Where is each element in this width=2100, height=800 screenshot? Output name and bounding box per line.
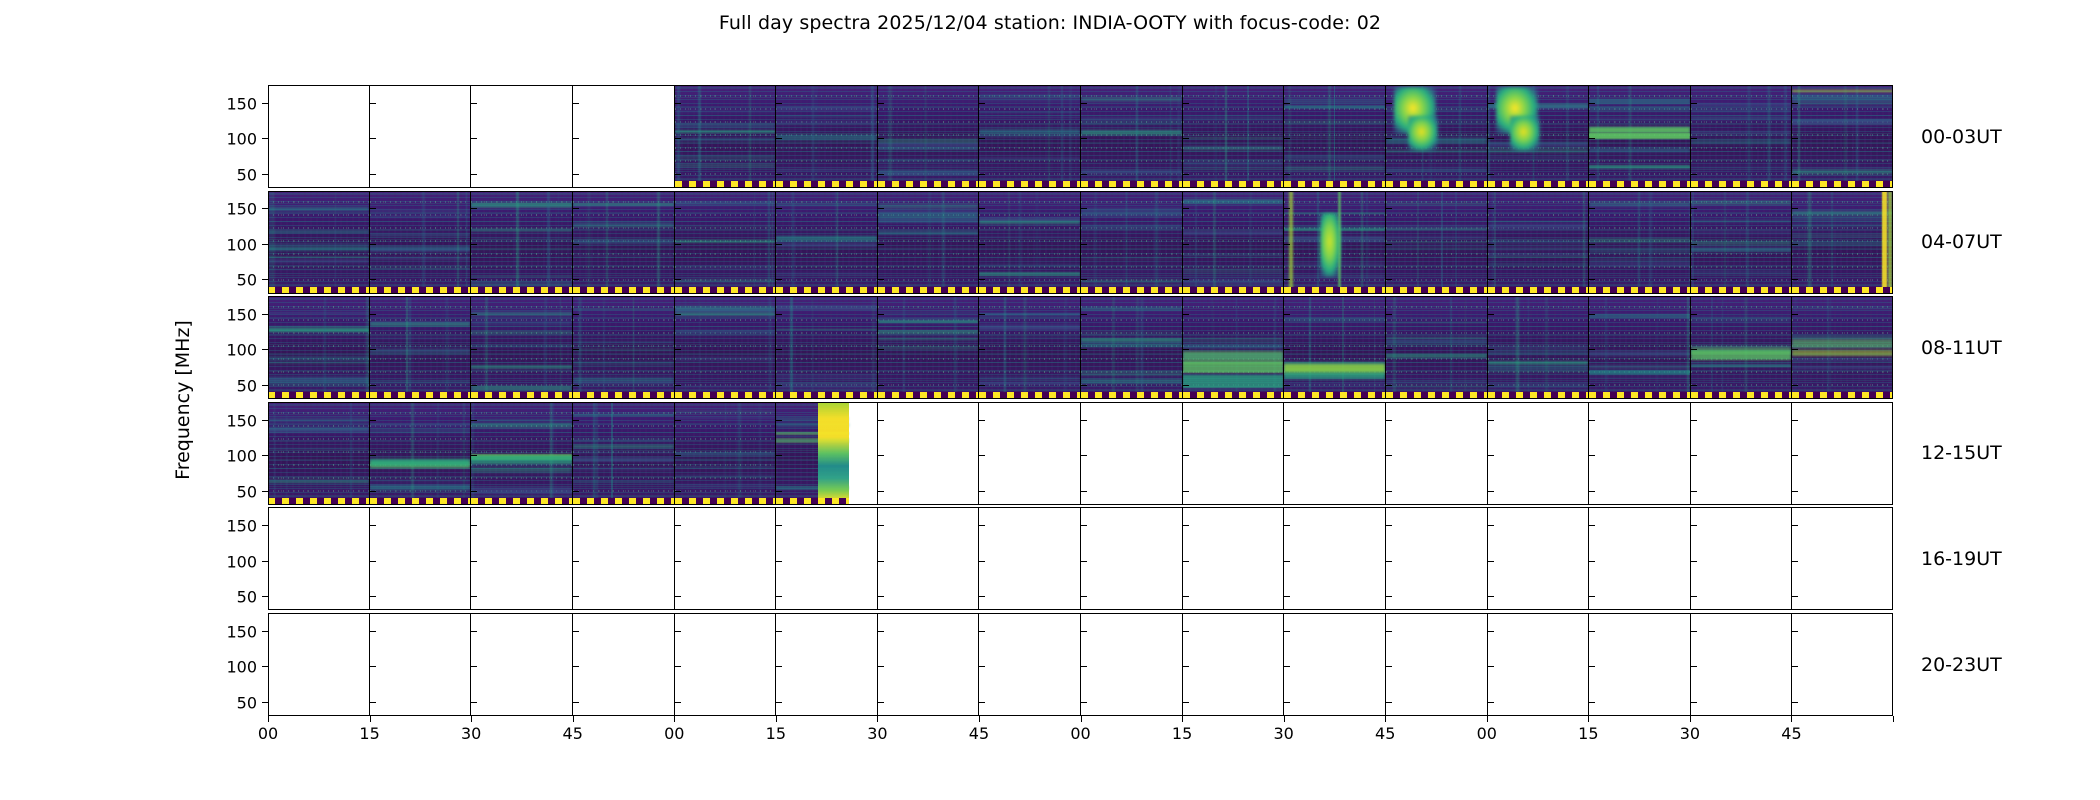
calibration-strip [471,287,572,294]
calibration-strip [1792,181,1893,188]
y-tick-inner [1081,666,1087,667]
spectrogram-panel[interactable] [1589,402,1691,505]
calibration-strip [1284,392,1385,399]
y-tick: 100 [262,349,268,350]
y-tick-inner [1488,666,1494,667]
spectrogram-speckle-texture [1183,296,1284,399]
row-time-label: 12-15UT [1921,442,2002,464]
y-tick-inner [1081,138,1087,139]
y-tick-inner [776,596,782,597]
y-tick-inner [370,244,376,245]
spectrogram-panel[interactable] [1183,402,1285,505]
y-tick-inner [1488,314,1494,315]
x-tick [471,716,472,722]
y-tick-inner [1284,702,1290,703]
spectrogram-panel[interactable] [1081,402,1183,505]
y-tick-inner [1589,631,1595,632]
y-tick-inner [1284,561,1290,562]
y-tick-inner [1081,420,1087,421]
y-tick-inner [878,138,884,139]
spectrogram-panel[interactable] [1284,402,1386,505]
spectrogram-panel[interactable] [1488,85,1590,188]
spectrogram-speckle-texture [878,296,979,399]
spectrogram-panel[interactable] [573,296,675,399]
spectrogram-panel[interactable] [268,507,370,610]
y-tick-inner [1589,561,1595,562]
spectrogram-panel[interactable] [268,296,370,399]
y-tick-inner [1792,244,1798,245]
spectrogram-panel[interactable] [1589,507,1691,610]
y-tick-inner [1386,525,1392,526]
spectrogram-panel[interactable] [573,402,675,505]
y-tick-inner [675,491,681,492]
y-tick-inner [1589,455,1595,456]
spectrogram-panel[interactable] [979,191,1081,294]
y-tick-inner [1386,455,1392,456]
x-tick [1182,716,1183,722]
spectrogram-panel[interactable] [1284,296,1386,399]
spectrogram-panel[interactable] [1081,191,1183,294]
spectrogram-panel[interactable] [1691,507,1793,610]
calibration-strip [573,392,674,399]
y-tick-inner [675,455,681,456]
y-tick-inner [370,385,376,386]
y-tick-inner [1691,702,1697,703]
y-tick-inner [1284,349,1290,350]
y-tick-inner [1691,561,1697,562]
y-tick-label: 50 [237,165,257,184]
spectrogram-panel[interactable] [1691,402,1793,505]
y-tick: 50 [262,385,268,386]
spectrogram-panel[interactable] [776,613,878,716]
y-tick-inner [1589,491,1595,492]
y-tick-inner [1691,314,1697,315]
spectrogram-image [1284,296,1385,399]
spectrogram-panel[interactable] [1792,296,1893,399]
calibration-strip [1691,287,1792,294]
spectrogram-panel[interactable] [370,85,472,188]
y-tick-inner [979,208,985,209]
y-tick-inner [1792,631,1798,632]
y-tick-inner [1183,491,1189,492]
y-tick-inner [1284,314,1290,315]
spectrogram-panel[interactable] [1792,613,1893,716]
y-tick-inner [1183,666,1189,667]
y-tick-inner [1792,666,1798,667]
spectrogram-image [878,296,979,399]
spectrogram-panel[interactable] [776,507,878,610]
spectrogram-panel[interactable] [675,296,777,399]
calibration-strip [1183,181,1284,188]
spectrogram-panel[interactable] [1183,613,1285,716]
spectrogram-panel[interactable] [878,402,980,505]
spectrogram-panel[interactable] [1691,613,1793,716]
spectrogram-panel[interactable] [1691,191,1793,294]
panel-strip [268,402,1893,505]
y-tick-inner [1081,103,1087,104]
spectrogram-row[interactable]: 15010050 [268,296,1893,399]
spectrogram-speckle-texture [1691,191,1792,294]
y-tick-inner [1081,385,1087,386]
y-tick-inner [1284,491,1290,492]
spectrogram-panel[interactable] [1589,85,1691,188]
y-tick-inner [1792,596,1798,597]
spectrogram-panel[interactable] [1488,191,1590,294]
y-tick-inner [471,385,477,386]
spectrogram-panel[interactable] [1183,296,1285,399]
x-tick [674,716,675,722]
y-tick-inner [1589,314,1595,315]
spectrogram-speckle-texture [1284,85,1385,188]
calibration-strip [675,287,776,294]
y-tick-inner [471,279,477,280]
y-tick-inner [1081,525,1087,526]
y-tick-inner [573,244,579,245]
spectrogram-panel[interactable] [675,402,777,505]
spectrogram-panel[interactable] [979,507,1081,610]
spectrogram-panel[interactable] [1589,296,1691,399]
spectrogram-panel[interactable] [471,191,573,294]
y-tick-inner [675,279,681,280]
y-tick: 100 [262,561,268,562]
y-tick-inner [1488,174,1494,175]
x-tick-label: 45 [969,724,989,743]
y-tick-inner [370,314,376,315]
y-tick-inner [1183,349,1189,350]
y-tick-inner [1488,138,1494,139]
spectrogram-speckle-texture [268,402,369,505]
calibration-strip [1488,287,1589,294]
spectrogram-image [471,296,572,399]
y-tick-inner [979,525,985,526]
spectrogram-speckle-texture [471,296,572,399]
spectrogram-panel[interactable] [1589,613,1691,716]
y-tick-inner [1488,702,1494,703]
spectrogram-panel[interactable] [1792,85,1893,188]
y-tick-inner [878,596,884,597]
spectrogram-panel[interactable] [370,191,472,294]
spectrogram-panel[interactable] [370,402,472,505]
y-axis-label: Frequency [MHz] [172,320,194,480]
y-tick-inner [1691,279,1697,280]
spectrogram-speckle-texture [1081,85,1182,188]
x-tick-label: 30 [1273,724,1293,743]
y-tick: 50 [262,596,268,597]
calibration-strip [1081,287,1182,294]
calibration-strip [1183,392,1284,399]
y-tick-inner [1386,631,1392,632]
y-tick-inner [776,244,782,245]
panel-strip [268,296,1893,399]
x-tick [573,716,574,722]
y-tick-inner [878,349,884,350]
y-tick-inner [878,420,884,421]
spectrogram-panel[interactable] [1386,507,1488,610]
y-tick-inner [1284,244,1290,245]
spectrogram-panel[interactable] [471,85,573,188]
spectrogram-image [1081,191,1182,294]
y-tick-inner [878,666,884,667]
spectrogram-panel[interactable] [1386,191,1488,294]
spectrogram-panel[interactable] [1386,85,1488,188]
y-tick-inner [1081,244,1087,245]
spectrogram-panel[interactable] [1183,85,1285,188]
spectrogram-panel[interactable] [979,402,1081,505]
y-tick-inner [471,455,477,456]
y-tick-inner [471,525,477,526]
y-tick-inner [675,138,681,139]
spectrogram-panel[interactable] [878,296,980,399]
y-tick-inner [471,420,477,421]
spectrogram-panel[interactable] [370,507,472,610]
spectrogram-row[interactable]: 15010050 [268,402,1893,505]
spectrogram-image [878,191,979,294]
spectrogram-panel[interactable] [776,191,878,294]
spectrogram-panel[interactable] [1081,507,1183,610]
y-tick-inner [573,455,579,456]
spectrogram-row[interactable]: 15010050 [268,507,1893,610]
spectrogram-image [1183,191,1284,294]
spectrogram-speckle-texture [776,191,877,294]
spectrogram-panel[interactable] [1386,402,1488,505]
spectrogram-panel[interactable] [878,613,980,716]
spectrogram-speckle-texture [370,296,471,399]
y-tick-inner [1386,561,1392,562]
y-tick-inner [1284,385,1290,386]
calibration-strip [1081,392,1182,399]
spectrogram-panel[interactable] [878,507,980,610]
y-tick-inner [1691,666,1697,667]
y-tick-inner [675,208,681,209]
spectrogram-panel[interactable] [675,507,777,610]
calibration-strip [675,392,776,399]
y-tick-inner [471,138,477,139]
x-tick-label: 15 [1578,724,1598,743]
y-tick-inner [1691,208,1697,209]
y-tick-inner [471,491,477,492]
spectrogram-panel[interactable] [1488,507,1590,610]
y-tick-inner [1488,279,1494,280]
y-tick-inner [878,103,884,104]
x-tick-label: 30 [461,724,481,743]
spectrogram-panel[interactable] [979,85,1081,188]
y-tick-inner [1081,596,1087,597]
y-tick-inner [370,279,376,280]
y-tick-inner [1792,385,1798,386]
spectrogram-row[interactable]: 15010050 [268,191,1893,294]
y-tick-inner [979,420,985,421]
page-title: Full day spectra 2025/12/04 station: IND… [0,12,2100,34]
spectrogram-panel[interactable] [1386,613,1488,716]
y-tick-inner [1183,455,1189,456]
y-tick-inner [1284,208,1290,209]
y-tick-inner [573,631,579,632]
spectrogram-speckle-texture [471,402,572,505]
y-tick-inner [370,208,376,209]
spectrogram-panel[interactable] [471,613,573,716]
y-tick-inner [776,525,782,526]
x-tick-label: 00 [1070,724,1090,743]
y-tick-inner [1284,174,1290,175]
spectrogram-panel[interactable] [573,191,675,294]
y-tick-inner [776,279,782,280]
spectrogram-panel[interactable] [1284,613,1386,716]
spectrogram-speckle-texture [1081,191,1182,294]
y-tick-inner [370,103,376,104]
spectrogram-panel[interactable] [979,613,1081,716]
spectrogram-image [776,296,877,399]
y-tick-inner [1183,279,1189,280]
spectrogram-panel[interactable] [268,402,370,505]
y-tick-inner [1589,666,1595,667]
y-tick-inner [1589,385,1595,386]
y-tick-label: 50 [237,588,257,607]
x-tick-label: 00 [258,724,278,743]
y-tick-inner [573,702,579,703]
y-tick-inner [573,349,579,350]
y-tick-inner [1284,666,1290,667]
y-tick-inner [1589,138,1595,139]
y-tick-inner [979,631,985,632]
y-tick-inner [1792,174,1798,175]
spectrogram-panel[interactable] [776,402,878,505]
spectrogram-image [776,85,877,188]
y-tick-inner [471,349,477,350]
y-tick-inner [979,491,985,492]
y-tick-inner [370,138,376,139]
calibration-strip [268,287,369,294]
spectrogram-panel[interactable] [1488,296,1590,399]
spectrogram-panel[interactable] [573,507,675,610]
spectrogram-panel[interactable] [1488,613,1590,716]
spectrogram-panel[interactable] [370,613,472,716]
spectrogram-panel[interactable] [1081,613,1183,716]
spectrogram-panel[interactable] [573,85,675,188]
spectrogram-panel[interactable] [1488,402,1590,505]
y-tick-inner [1691,631,1697,632]
y-tick-inner [1183,702,1189,703]
y-tick-inner [370,491,376,492]
spectrogram-panel[interactable] [1792,402,1893,505]
spectrogram-speckle-texture [776,296,877,399]
y-tick-inner [1589,279,1595,280]
x-tick-label: 45 [563,724,583,743]
spectrogram-image [675,402,776,505]
y-tick-inner [1691,385,1697,386]
calibration-strip [1589,181,1690,188]
spectrogram-panel[interactable] [776,296,878,399]
y-tick-inner [776,455,782,456]
x-tick-label: 15 [359,724,379,743]
spectrogram-panel[interactable] [1792,191,1893,294]
spectrogram-panel[interactable] [1386,296,1488,399]
calibration-strip [878,392,979,399]
spectrogram-panel[interactable] [471,402,573,505]
y-tick-label: 150 [226,305,257,324]
spectrogram-panel[interactable] [268,85,370,188]
spectrogram-image [776,191,877,294]
spectrogram-panel[interactable] [1081,296,1183,399]
y-tick-inner [1386,666,1392,667]
spectrogram-panel[interactable] [1589,191,1691,294]
spectrogram-image [675,85,776,188]
spectrogram-panel[interactable] [471,296,573,399]
spectrogram-speckle-texture [675,85,776,188]
y-tick-label: 100 [226,341,257,360]
y-tick-inner [1081,208,1087,209]
y-tick-inner [573,385,579,386]
y-tick-inner [1183,385,1189,386]
y-tick-inner [1792,349,1798,350]
spectrogram-panel[interactable] [471,507,573,610]
y-tick-inner [878,702,884,703]
spectrogram-image [1589,191,1690,294]
y-tick-inner [1386,314,1392,315]
y-tick-inner [776,666,782,667]
y-tick-inner [675,244,681,245]
y-tick-inner [573,208,579,209]
spectrogram-image [370,296,471,399]
y-tick-inner [675,420,681,421]
spectrogram-panel[interactable] [1284,85,1386,188]
panel-strip [268,191,1893,294]
y-tick-inner [878,314,884,315]
y-tick-inner [1183,631,1189,632]
y-tick-inner [878,525,884,526]
spectrogram-panel[interactable] [1183,507,1285,610]
spectrogram-panel[interactable] [979,296,1081,399]
calibration-strip [1284,181,1385,188]
spectrogram-panel[interactable] [675,613,777,716]
spectrogram-panel[interactable] [675,85,777,188]
spectrogram-panel[interactable] [573,613,675,716]
y-tick-inner [1081,561,1087,562]
spectrogram-panel[interactable] [1284,191,1386,294]
calibration-strip [878,287,979,294]
x-tick-label: 30 [1680,724,1700,743]
spectrogram-row[interactable]: 15010050 [268,85,1893,188]
spectrogram-panel[interactable] [1183,191,1285,294]
y-tick-inner [1183,138,1189,139]
y-tick-inner [675,349,681,350]
spectrogram-panel[interactable] [1691,296,1793,399]
x-tick [979,716,980,722]
y-tick-inner [573,666,579,667]
spectrogram-panel[interactable] [1284,507,1386,610]
y-tick-inner [1589,420,1595,421]
spectrogram-speckle-texture [1183,191,1284,294]
spectrogram-panel[interactable] [776,85,878,188]
spectrogram-panel[interactable] [268,613,370,716]
calibration-strip [776,287,877,294]
spectrogram-panel[interactable] [1081,85,1183,188]
spectrogram-speckle-texture [268,296,369,399]
y-tick-inner [1081,349,1087,350]
spectrogram-panel[interactable] [268,191,370,294]
y-tick-inner [1792,103,1798,104]
spectrogram-panel[interactable] [370,296,472,399]
spectrogram-panel[interactable] [675,191,777,294]
y-tick-inner [1183,420,1189,421]
y-tick-label: 150 [226,94,257,113]
spectrogram-row[interactable]: 1501005000153045001530450015304500153045 [268,613,1893,716]
y-tick-inner [776,138,782,139]
spectrogram-panel[interactable] [1792,507,1893,610]
spectrogram-panel[interactable] [1691,85,1793,188]
spectrogram-panel[interactable] [878,85,980,188]
y-tick: 150 [262,314,268,315]
spectrogram-panel[interactable] [878,191,980,294]
